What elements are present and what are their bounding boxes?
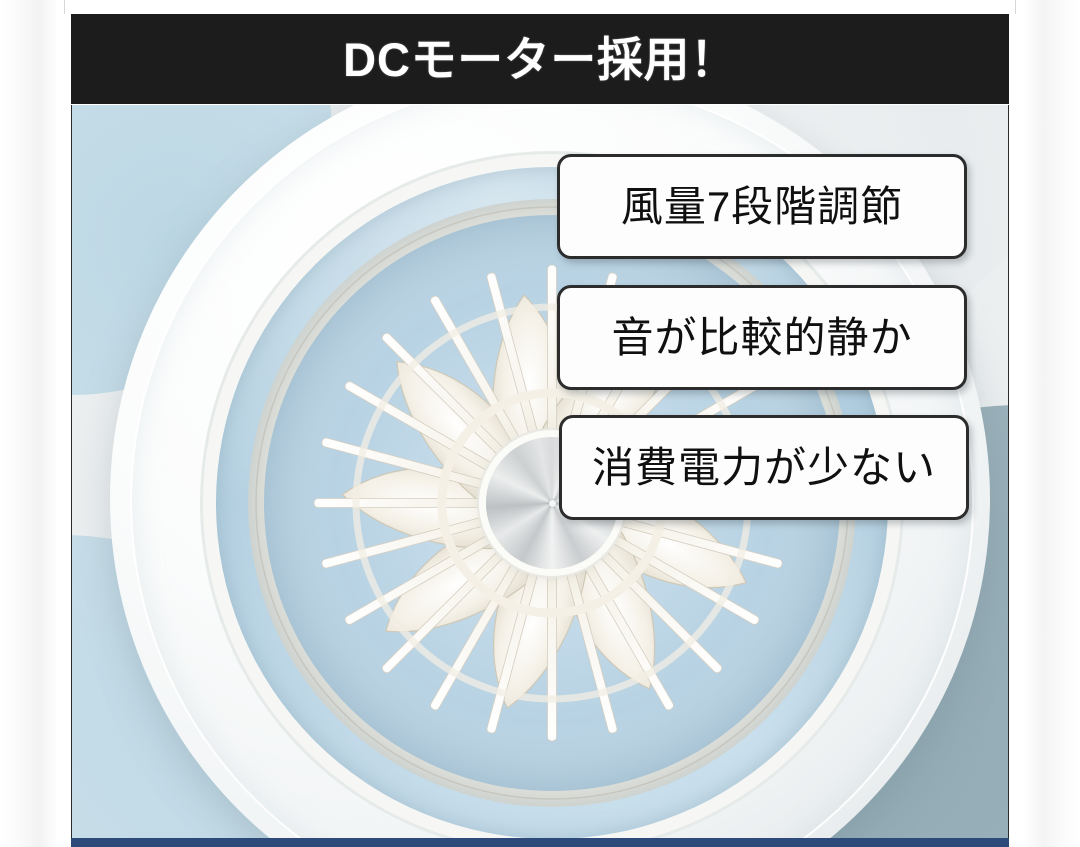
feature-callout-airflow: 風量7段階調節	[557, 154, 967, 259]
content-card: DCモーター採用！	[64, 0, 1016, 847]
feature-callout-power: 消費電力が少ない	[559, 415, 969, 520]
feature-callout-power-label: 消費電力が少ない	[592, 447, 936, 489]
fan-hub-center-dot	[549, 500, 556, 507]
feature-callout-quiet-label: 音が比較的静か	[611, 317, 912, 359]
photo-bottom-strip	[71, 838, 1009, 847]
page-root: DCモーター採用！	[0, 0, 1080, 847]
feature-callout-quiet: 音が比較的静か	[557, 285, 967, 390]
top-divider	[64, 0, 1016, 14]
headline-title: DCモーター採用！	[343, 36, 737, 83]
product-photo: 風量7段階調節 音が比較的静か 消費電力が少ない	[71, 105, 1009, 840]
feature-callout-airflow-label: 風量7段階調節	[621, 186, 903, 228]
headline-banner: DCモーター採用！	[71, 14, 1009, 104]
